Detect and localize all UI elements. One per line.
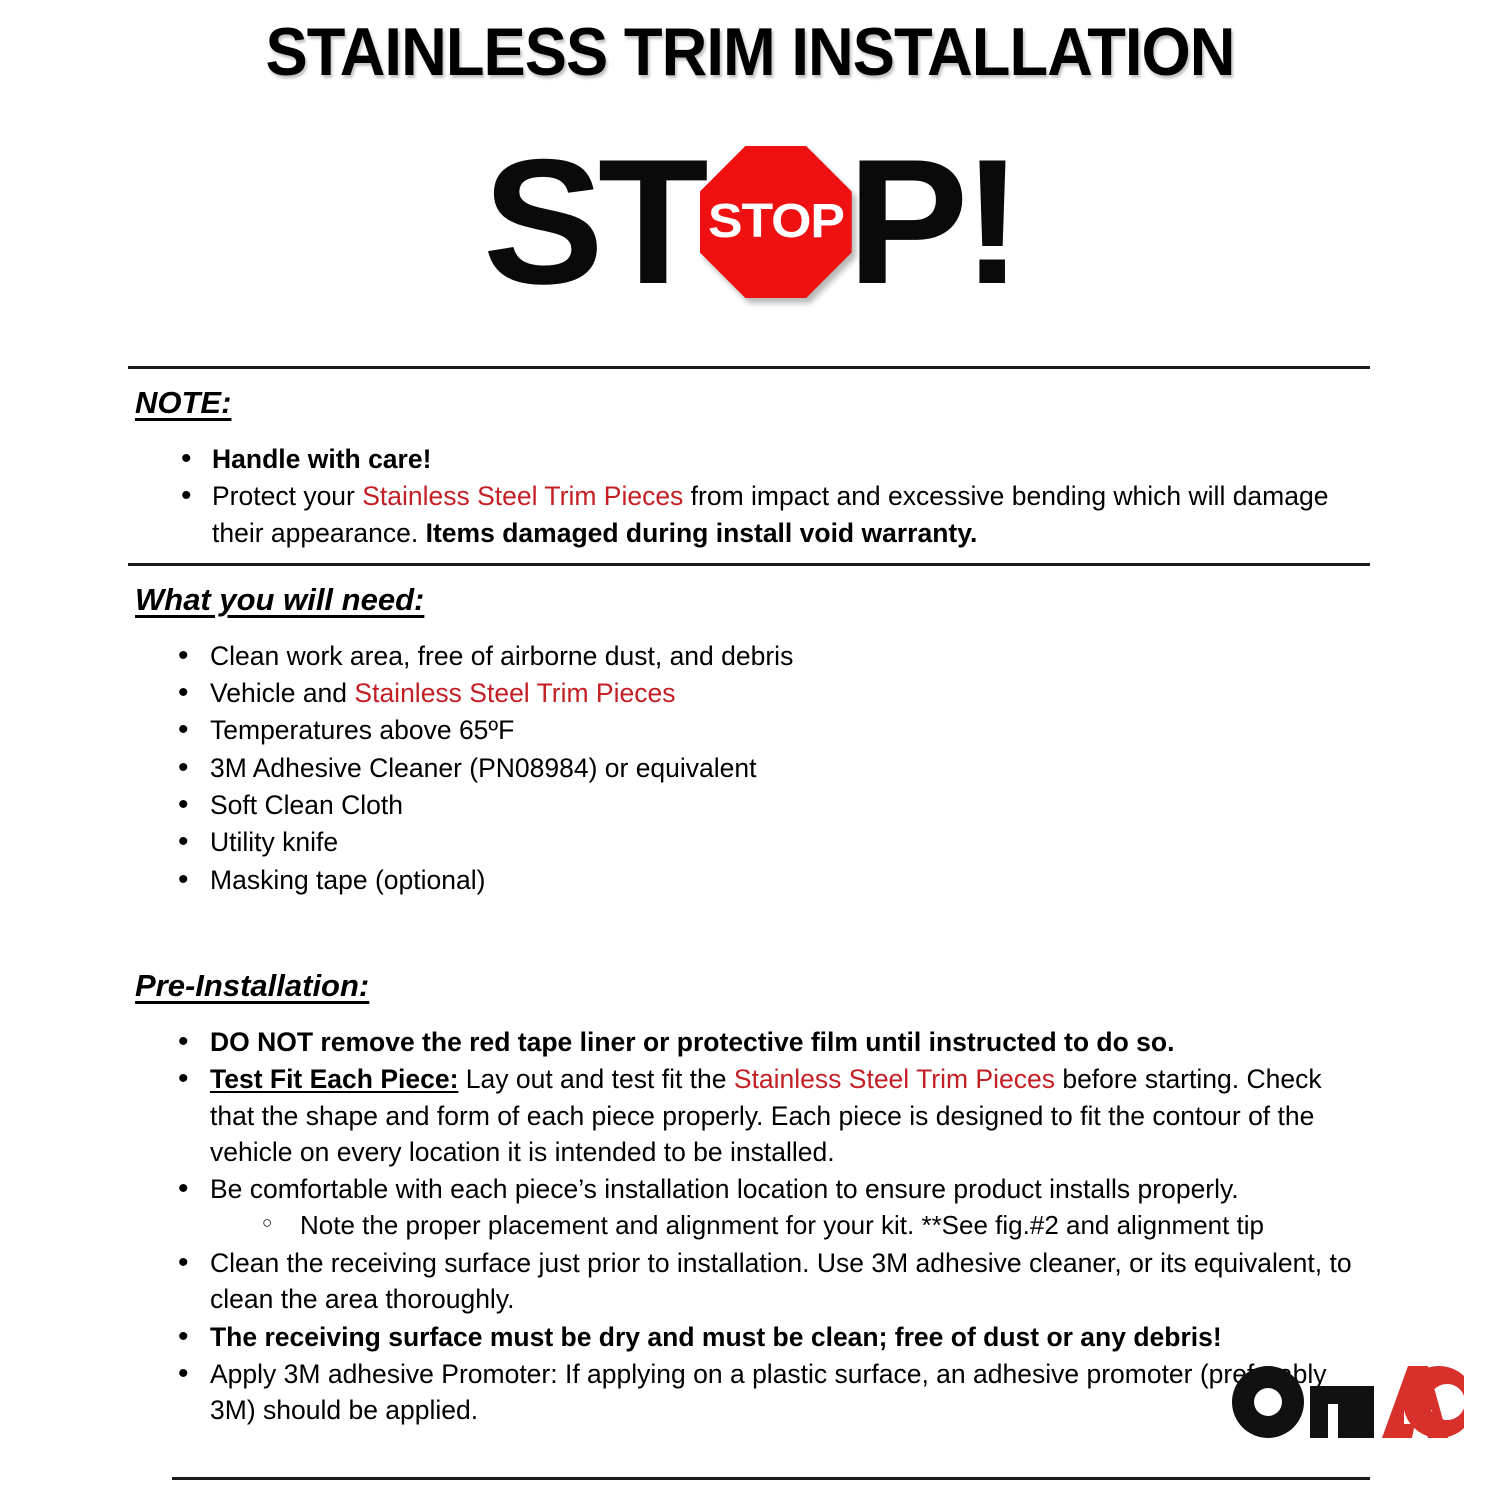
what-you-need-bullet-list: Clean work area, free of airborne dust, … (0, 638, 1500, 898)
omac-logo-mark (1232, 1366, 1464, 1438)
need-bullet-vehicle-and-trim: Vehicle and Stainless Steel Trim Pieces (0, 675, 1500, 711)
text-run: Lay out and test fit the (458, 1064, 733, 1094)
pre-bullet-do-not-remove-liner: DO NOT remove the red tape liner or prot… (0, 1024, 1500, 1060)
text-run: 3M Adhesive Cleaner (PN08984) or equival… (210, 753, 757, 783)
what-you-need-section: What you will need: Clean work area, fre… (0, 582, 1500, 898)
note-bullet-list: Handle with care!Protect your Stainless … (0, 441, 1500, 551)
text-run: Items damaged during install void warran… (426, 518, 978, 548)
stop-sign-label: STOP (708, 198, 844, 246)
text-run: Handle with care! (212, 444, 431, 474)
text-run: Clean the receiving surface just prior t… (210, 1248, 1352, 1314)
text-run: Temperatures above 65ºF (210, 715, 514, 745)
text-run: The receiving surface must be dry and mu… (210, 1322, 1222, 1352)
divider-note-bottom (128, 563, 1370, 566)
stop-graphic: ST STOP P! (0, 122, 1500, 322)
need-bullet-temperature: Temperatures above 65ºF (0, 712, 1500, 748)
pre-bullet-note-placement: Note the proper placement and alignment … (0, 1208, 1500, 1244)
octagon-shape: STOP (700, 146, 852, 298)
note-section: NOTE: Handle with care!Protect your Stai… (0, 385, 1500, 551)
pre-bullet-surface-dry-clean: The receiving surface must be dry and mu… (0, 1319, 1500, 1355)
text-run: Utility knife (210, 827, 338, 857)
what-you-need-heading: What you will need: (135, 582, 424, 618)
text-run: Test Fit Each Piece: (210, 1064, 458, 1094)
text-run: Stainless Steel Trim Pieces (354, 678, 675, 708)
text-run: Soft Clean Cloth (210, 790, 403, 820)
note-bullet-protect-trim: Protect your Stainless Steel Trim Pieces… (0, 478, 1500, 551)
omac-logo (1232, 1364, 1464, 1438)
need-bullet-masking-tape: Masking tape (optional) (0, 862, 1500, 898)
text-run: Be comfortable with each piece’s install… (210, 1174, 1239, 1204)
text-run: Apply 3M adhesive Promoter: If applying … (210, 1359, 1327, 1425)
page-title: STAINLESS TRIM INSTALLATION (53, 0, 1448, 86)
note-bullet-handle-with-care: Handle with care! (0, 441, 1500, 477)
text-run: Stainless Steel Trim Pieces (362, 481, 683, 511)
logo-letter-m-top (1310, 1386, 1374, 1404)
stop-word-right: P! (847, 149, 1016, 295)
text-run: Stainless Steel Trim Pieces (734, 1064, 1055, 1094)
text-run: Protect your (212, 481, 362, 511)
divider-bottom (172, 1477, 1370, 1480)
logo-letter-o (1232, 1366, 1304, 1438)
text-run: Note the proper placement and alignment … (300, 1210, 1264, 1240)
text-run: Vehicle and (210, 678, 354, 708)
pre-bullet-be-comfortable: Be comfortable with each piece’s install… (0, 1171, 1500, 1207)
pre-bullet-test-fit-each-piece: Test Fit Each Piece: Lay out and test fi… (0, 1061, 1500, 1170)
stop-sign-icon: STOP (695, 141, 857, 303)
need-bullet-adhesive-cleaner: 3M Adhesive Cleaner (PN08984) or equival… (0, 750, 1500, 786)
pre-installation-section: Pre-Installation: DO NOT remove the red … (0, 968, 1500, 1429)
pre-bullet-clean-receiving-surface: Clean the receiving surface just prior t… (0, 1245, 1500, 1318)
text-run: Clean work area, free of airborne dust, … (210, 641, 793, 671)
text-run: Masking tape (optional) (210, 865, 485, 895)
text-run: DO NOT remove the red tape liner or prot… (210, 1027, 1174, 1057)
need-bullet-clean-work-area: Clean work area, free of airborne dust, … (0, 638, 1500, 674)
stop-word-left: ST (483, 149, 703, 295)
need-bullet-soft-clean-cloth: Soft Clean Cloth (0, 787, 1500, 823)
note-heading: NOTE: (135, 385, 231, 421)
pre-installation-heading: Pre-Installation: (135, 968, 369, 1004)
divider-top (128, 366, 1370, 369)
need-bullet-utility-knife: Utility knife (0, 824, 1500, 860)
